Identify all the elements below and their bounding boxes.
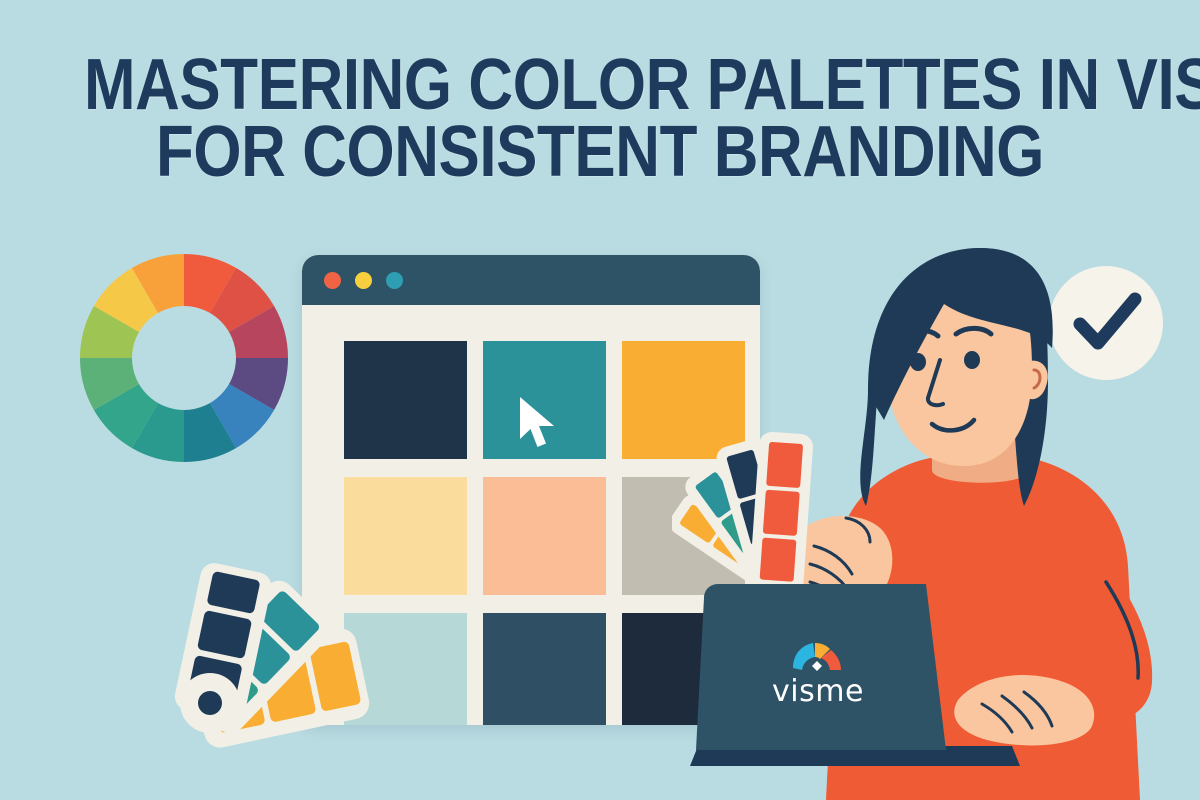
- visme-logo: visme: [758, 640, 878, 716]
- color-wheel-icon: [78, 252, 290, 464]
- eye-left: [910, 353, 926, 371]
- minimize-dot[interactable]: [355, 272, 372, 289]
- page-title: MASTERING COLOR PALETTES IN VISI FOR CON…: [0, 52, 1200, 186]
- title-line-2: FOR CONSISTENT BRANDING: [84, 119, 1116, 186]
- fan-pivot-hole: [198, 691, 222, 715]
- close-dot[interactable]: [324, 272, 341, 289]
- browser-titlebar: [302, 255, 760, 305]
- wheel-hub: [132, 306, 236, 410]
- maximize-dot[interactable]: [386, 272, 403, 289]
- swatch-r3c2[interactable]: [483, 613, 606, 725]
- color-fan-deck-left: [150, 498, 380, 768]
- poster-canvas: MASTERING COLOR PALETTES IN VISI FOR CON…: [0, 0, 1200, 800]
- held-card-red: [748, 431, 813, 600]
- logo-left-arc: [793, 643, 815, 670]
- swatch-r1c1[interactable]: [344, 341, 467, 459]
- visme-wordmark: visme: [758, 677, 878, 707]
- logo-diamond: [812, 661, 822, 671]
- eye-right: [964, 351, 980, 369]
- swatch-r2c2[interactable]: [483, 477, 606, 595]
- mouse-pointer-cursor: [516, 395, 562, 458]
- color-fan-deck-held: [672, 424, 862, 604]
- title-line-1: MASTERING COLOR PALETTES IN VISI: [84, 52, 1116, 119]
